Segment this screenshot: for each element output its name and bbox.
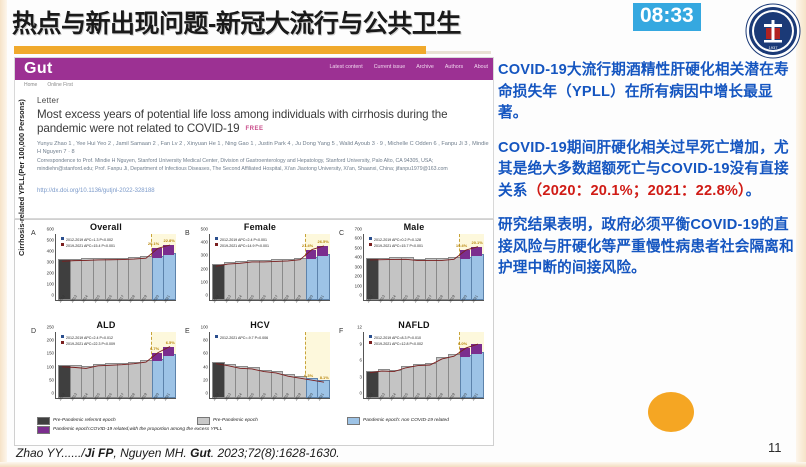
bar: 2019 <box>448 356 459 398</box>
covid-proportion-label: 22.8% <box>163 238 174 243</box>
chart-plot-area: 0204060801002012201320142015201620172018… <box>209 332 330 399</box>
bar: 2015 <box>401 368 412 398</box>
legend-swatch-icon <box>197 417 210 425</box>
y-tick-label: 100 <box>47 364 54 369</box>
citation-line: Zhao YY....../Ji FP, Nguyen MH. Gut. 202… <box>16 446 486 460</box>
series-legend-entry: 2012-2021 APC=-9.7 P=0.006 <box>215 335 268 341</box>
bar: 2013 <box>378 260 389 300</box>
legend-label-3: Pandemic epoch:COVID-19 related,with the… <box>53 425 222 434</box>
legend-item-1: Pre-Pandemic epoch <box>197 416 347 425</box>
bar: 2013 <box>224 366 235 398</box>
series-legend-entry: 2019-2021 APC=15.4 P<0.001 <box>61 243 115 249</box>
y-tick-label: 200 <box>201 266 208 271</box>
bar: 2015 <box>93 366 104 398</box>
orange-accent-bar <box>14 46 426 54</box>
bar: 2017 <box>271 261 282 300</box>
page-title: 热点与新出现问题-新冠大流行与公共卫生 <box>12 4 461 40</box>
bar: 2019 <box>140 362 151 398</box>
bar: 2012 <box>212 364 223 398</box>
bar: 2014 <box>81 260 92 300</box>
legend-swatch-icon <box>37 417 50 425</box>
y-tick-label: 0 <box>360 391 362 396</box>
article-doi-link[interactable]: http://dx.doi.org/10.1136/gutjnl-2022-32… <box>37 188 155 194</box>
time-badge: 08:33 <box>633 3 701 31</box>
svg-text:1937: 1937 <box>769 45 779 50</box>
y-tick-label: 200 <box>47 271 54 276</box>
legend-item-0: Pre-Pandemic refernnt epoch <box>37 416 197 425</box>
bar: 2019 <box>294 378 305 398</box>
bar: 2014 <box>235 368 246 398</box>
citation-prefix: Zhao YY....../ <box>16 446 85 460</box>
y-tick-label: 40 <box>203 364 208 369</box>
bar: 2021 <box>163 245 174 300</box>
page-number: 11 <box>768 440 782 455</box>
bar-segment-covid <box>152 248 163 257</box>
covid-proportion-label: 20.1% <box>471 240 482 245</box>
commentary-p2-highlight: （2020：20.1%；2021：22.8%） <box>528 183 746 199</box>
commentary-p2-tail: 。 <box>746 183 761 199</box>
slide-header: 热点与新出现问题-新冠大流行与公共卫生 08:33 1937 <box>0 0 806 45</box>
bar: 2012 <box>366 260 377 300</box>
y-tick-label: 0 <box>52 391 54 396</box>
bar-segment-non-covid <box>163 354 176 398</box>
bar: 2016 <box>413 261 424 300</box>
y-tick-label: 250 <box>47 325 54 330</box>
bar: 2014 <box>389 259 400 300</box>
article-authors: Yunyu Zhao 1 , Yee Hui Yeo 2 , Jamil Sam… <box>37 140 489 156</box>
series-legend-label: 2012-2019 APC=1.3 P<0.002 <box>66 238 113 242</box>
accent-bar-tail <box>426 51 491 54</box>
y-tick-label: 100 <box>355 283 362 288</box>
chart-panel-letter: B <box>185 230 190 237</box>
commentary-column: COVID-19大流行期酒精性肝硬化相关潜在寿命损失年（YPLL）在所有病因中增… <box>498 60 798 293</box>
bar: 2018 <box>128 364 139 398</box>
bar: 2020 <box>152 248 163 300</box>
series-marker-icon <box>215 335 218 338</box>
chart-panel-c: MaleC01002003004005006007002012201320142… <box>337 222 491 320</box>
bar: 2015 <box>247 369 258 398</box>
bar: 2017 <box>425 260 436 300</box>
series-legend-entry: 2019-2021 APC=15.7 P<0.001 <box>369 243 423 249</box>
bar: 2021 <box>317 246 328 300</box>
y-tick-label: 12 <box>357 325 362 330</box>
series-legend-label: 2012-2019 APC=8.3 P=0.010 <box>374 336 421 340</box>
bar: 2017 <box>271 373 282 398</box>
chart-panel-letter: F <box>339 328 343 335</box>
y-tick-label: 3 <box>360 374 362 379</box>
bar-segment-covid <box>317 246 328 256</box>
nav-latest-content[interactable]: Latest content <box>329 64 362 70</box>
series-legend-entry: 2019-2021 APC=14.9 P<0.001 <box>215 243 269 249</box>
bar: 2021 <box>471 344 482 398</box>
series-marker-icon <box>215 243 218 246</box>
y-tick-label: 9 <box>360 341 362 346</box>
breadcrumb-home[interactable]: Home <box>24 82 37 88</box>
y-tick-label: 80 <box>203 338 208 343</box>
journal-logo: Gut <box>24 60 53 78</box>
y-tick-label: 600 <box>355 236 362 241</box>
citation-suffix: . 2023;72(8):1628-1630. <box>211 446 340 460</box>
figure-legend: Pre-Pandemic refernnt epoch Pre-Pandemic… <box>37 416 487 434</box>
bar: 2020 <box>152 353 163 398</box>
nav-current-issue[interactable]: Current issue <box>374 64 406 70</box>
bar: 2012 <box>58 261 69 300</box>
y-tick-label: 0 <box>206 391 208 396</box>
bar-segment-covid <box>471 247 482 257</box>
series-legend-label: 2019-2021 APC=15.4 P<0.001 <box>66 244 115 248</box>
figure-legend-row-2: Pandemic epoch:COVID-19 related,with the… <box>37 425 487 434</box>
bar: 2018 <box>128 259 139 300</box>
bar: 2019 <box>294 260 305 300</box>
series-marker-icon <box>369 341 372 344</box>
covid-proportion-label: 6.0% <box>458 341 467 346</box>
series-marker-icon <box>61 341 64 344</box>
commentary-paragraph-3: 研究结果表明，政府必须平衡COVID-19的直接风险与肝硬化等严重慢性病患者社会… <box>498 215 798 280</box>
bar: 2020 <box>460 348 471 398</box>
legend-label-0: Pre-Pandemic refernnt epoch <box>53 416 116 425</box>
bar: 2019 <box>448 259 459 300</box>
y-tick-label: 300 <box>201 253 208 258</box>
y-tick-label: 20 <box>203 377 208 382</box>
series-legend: 2012-2021 APC=-9.7 P=0.006 <box>215 335 268 341</box>
bar: 2013 <box>70 261 81 300</box>
series-marker-icon <box>61 237 64 240</box>
y-tick-label: 6 <box>360 358 362 363</box>
bar: 2016 <box>105 260 116 300</box>
series-legend-label: 2019-2021 APC=12.8 P<0.002 <box>374 342 423 346</box>
y-tick-label: 500 <box>355 245 362 250</box>
series-marker-icon <box>61 335 64 338</box>
series-marker-icon <box>215 237 218 240</box>
legend-swatch-icon <box>37 426 50 434</box>
bar: 2014 <box>389 372 400 398</box>
article-correspondence: Correspondence to Prof. Mindie H Nguyen,… <box>37 158 489 173</box>
bar-segment-covid <box>163 245 174 255</box>
y-tick-label: 100 <box>201 279 208 284</box>
bar: 2012 <box>58 367 69 398</box>
y-tick-label: 300 <box>355 264 362 269</box>
y-tick-label: 150 <box>47 351 54 356</box>
bar: 2013 <box>70 367 81 398</box>
chart-panels: OverallA01002003004005006002012201320142… <box>29 222 491 418</box>
bar-segment-covid <box>306 250 317 259</box>
journal-article-card: Gut Latest content Current issue Archive… <box>14 57 494 219</box>
bar: 2012 <box>366 373 377 398</box>
series-legend-label: 2012-2019 APC=0.2 P=0.128 <box>374 238 421 242</box>
bar: 2021 <box>163 347 174 398</box>
figure-panel-grid: Cirrhosis-related YPLL(Per 100,000 Perso… <box>14 219 494 446</box>
y-tick-label: 50 <box>49 377 54 382</box>
covid-proportion-label: 8.1% <box>320 375 329 380</box>
bar: 2018 <box>436 260 447 300</box>
bar-segment-covid <box>163 347 174 356</box>
bar: 2019 <box>140 258 151 300</box>
slide-canvas: 热点与新出现问题-新冠大流行与公共卫生 08:33 1937 Gut Lates… <box>0 0 806 467</box>
series-legend: 2012-2019 APC=0.2 P=0.1282019-2021 APC=1… <box>369 237 423 249</box>
chart-panel-a: OverallA01002003004005006002012201320142… <box>29 222 183 320</box>
bar-segment-covid <box>471 344 482 354</box>
y-tick-label: 0 <box>206 293 208 298</box>
series-marker-icon <box>369 237 372 240</box>
legend-item-3: Pandemic epoch:COVID-19 related,with the… <box>37 425 222 434</box>
y-tick-label: 500 <box>201 227 208 232</box>
y-tick-label: 300 <box>47 260 54 265</box>
series-legend: 2012-2019 APC=2.4 P=0.0122019-2021 APC=2… <box>61 335 115 347</box>
chart-panel-letter: C <box>339 230 344 237</box>
bar-segment-non-covid <box>471 254 484 300</box>
legend-item-2: Pandemic epoch: non COVID-19 related <box>347 416 449 425</box>
bar: 2012 <box>212 266 223 300</box>
legend-swatch-icon <box>347 417 360 425</box>
bar: 2016 <box>259 262 270 300</box>
bar: 2015 <box>247 262 258 300</box>
commentary-paragraph-2: COVID-19期间肝硬化相关过早死亡增加，尤其是绝大多数超额死亡与COVID-… <box>498 138 798 203</box>
series-legend-entry: 2019-2021 APC=12.8 P<0.002 <box>369 341 423 347</box>
covid-proportion-label: 21.4% <box>302 243 313 248</box>
series-legend-label: 2012-2019 APC=2.4 P<0.001 <box>220 238 267 242</box>
bar-segment-covid <box>460 250 471 259</box>
bar: 2017 <box>117 365 128 398</box>
bar: 2018 <box>282 376 293 398</box>
series-legend: 2012-2019 APC=8.3 P=0.0102019-2021 APC=1… <box>369 335 423 347</box>
bar: 2014 <box>235 263 246 300</box>
y-tick-label: 200 <box>355 274 362 279</box>
journal-nav: Latest content Current issue Archive Aut… <box>329 64 488 70</box>
y-tick-label: 400 <box>355 255 362 260</box>
series-marker-icon <box>369 335 372 338</box>
article-title-text: Most excess years of potential life loss… <box>37 108 447 135</box>
covid-proportion-label: 19.4% <box>456 243 467 248</box>
chart-panel-letter: E <box>185 328 190 335</box>
y-tick-label: 0 <box>52 293 54 298</box>
bar: 2013 <box>224 264 235 300</box>
orange-circle-decoration <box>648 392 694 432</box>
article-type-label: Letter <box>37 96 59 105</box>
series-marker-icon <box>61 243 64 246</box>
bar: 2020 <box>306 250 317 300</box>
series-legend-label: 2019-2021 APC=22.3 P<0.009 <box>66 342 115 346</box>
bar: 2014 <box>81 368 92 398</box>
y-tick-label: 100 <box>201 325 208 330</box>
series-legend-label: 2019-2021 APC=15.7 P<0.001 <box>374 244 423 248</box>
figure-legend-row-1: Pre-Pandemic refernnt epoch Pre-Pandemic… <box>37 416 487 425</box>
bar: 2016 <box>105 365 116 398</box>
bar: 2015 <box>93 260 104 300</box>
legend-label-1: Pre-Pandemic epoch <box>213 416 258 425</box>
free-badge: FREE <box>246 126 264 132</box>
breadcrumb-online-first[interactable]: Online First <box>47 82 73 88</box>
covid-proportion-label: 6.3% <box>304 373 313 378</box>
chart-panel-letter: A <box>31 230 36 237</box>
y-tick-label: 400 <box>201 240 208 245</box>
nav-archive[interactable]: Archive <box>416 64 434 70</box>
bar: 2018 <box>282 261 293 300</box>
bar: 2020 <box>306 380 317 398</box>
y-tick-label: 400 <box>47 249 54 254</box>
series-legend: 2012-2019 APC=1.3 P<0.0022019-2021 APC=1… <box>61 237 115 249</box>
covid-proportion-label: 6.5% <box>166 340 175 345</box>
bar: 2015 <box>401 259 412 300</box>
commentary-paragraph-1: COVID-19大流行期酒精性肝硬化相关潜在寿命损失年（YPLL）在所有病因中增… <box>498 60 798 125</box>
y-tick-label: 200 <box>47 338 54 343</box>
chart-panel-d: ALDD050100150200250201220132014201520162… <box>29 320 183 418</box>
covid-proportion-label: 20.1% <box>148 241 159 246</box>
slide-left-border <box>0 0 7 467</box>
y-tick-label: 60 <box>203 351 208 356</box>
figure-y-axis-label: Cirrhosis-related YPLL(Per 100,000 Perso… <box>17 96 26 256</box>
y-tick-label: 500 <box>47 238 54 243</box>
citation-journal-bold: Gut <box>190 446 211 460</box>
bar: 2021 <box>317 382 328 398</box>
nav-about[interactable]: About <box>474 64 488 70</box>
bar-segment-non-covid <box>163 253 176 300</box>
chart-panel-b: FemaleB010020030040050020122013201420152… <box>183 222 337 320</box>
university-seal-logo: 1937 <box>744 2 802 60</box>
series-legend-entry: 2019-2021 APC=22.3 P<0.009 <box>61 341 115 347</box>
bar: 2016 <box>413 366 424 398</box>
breadcrumb: Home Online First <box>24 82 73 88</box>
citation-middle: , Nguyen MH. <box>113 446 190 460</box>
series-legend-label: 2012-2019 APC=2.4 P=0.012 <box>66 336 113 340</box>
bar-segment-non-covid <box>317 254 330 300</box>
bar: 2018 <box>436 359 447 398</box>
citation-author-bold: Ji FP <box>85 446 114 460</box>
y-tick-label: 600 <box>47 227 54 232</box>
series-marker-icon <box>369 243 372 246</box>
bar-segment-covid <box>460 348 471 357</box>
chart-panel-f: NAFLDF0369122012201320142015201620172018… <box>337 320 491 418</box>
covid-proportion-label: 6.7% <box>150 346 159 351</box>
bar-segment-non-covid <box>471 352 484 398</box>
covid-proportion-label: 26.5% <box>317 239 328 244</box>
series-legend-label: 2012-2021 APC=-9.7 P=0.006 <box>220 336 268 340</box>
bar: 2020 <box>460 250 471 300</box>
y-tick-label: 700 <box>355 227 362 232</box>
article-title: Most excess years of potential life loss… <box>37 108 467 136</box>
legend-label-2: Pandemic epoch: non COVID-19 related <box>363 416 449 425</box>
series-legend-label: 2019-2021 APC=14.9 P<0.001 <box>220 244 269 248</box>
slide-bottom-border <box>0 462 806 467</box>
bar: 2021 <box>471 247 482 300</box>
bar: 2017 <box>425 365 436 398</box>
chart-panel-letter: D <box>31 328 36 335</box>
bar: 2013 <box>378 371 389 398</box>
series-legend: 2012-2019 APC=2.4 P<0.0012019-2021 APC=1… <box>215 237 269 249</box>
y-tick-label: 0 <box>360 293 362 298</box>
bar-segment-covid <box>152 353 163 361</box>
bar: 2017 <box>117 260 128 300</box>
bar-group: 2012201320142015201620172018201920202021 <box>210 332 330 398</box>
chart-panel-e: HCVE020406080100201220132014201520162017… <box>183 320 337 418</box>
y-tick-label: 100 <box>47 282 54 287</box>
nav-authors[interactable]: Authors <box>445 64 463 70</box>
bar: 2016 <box>259 372 270 398</box>
